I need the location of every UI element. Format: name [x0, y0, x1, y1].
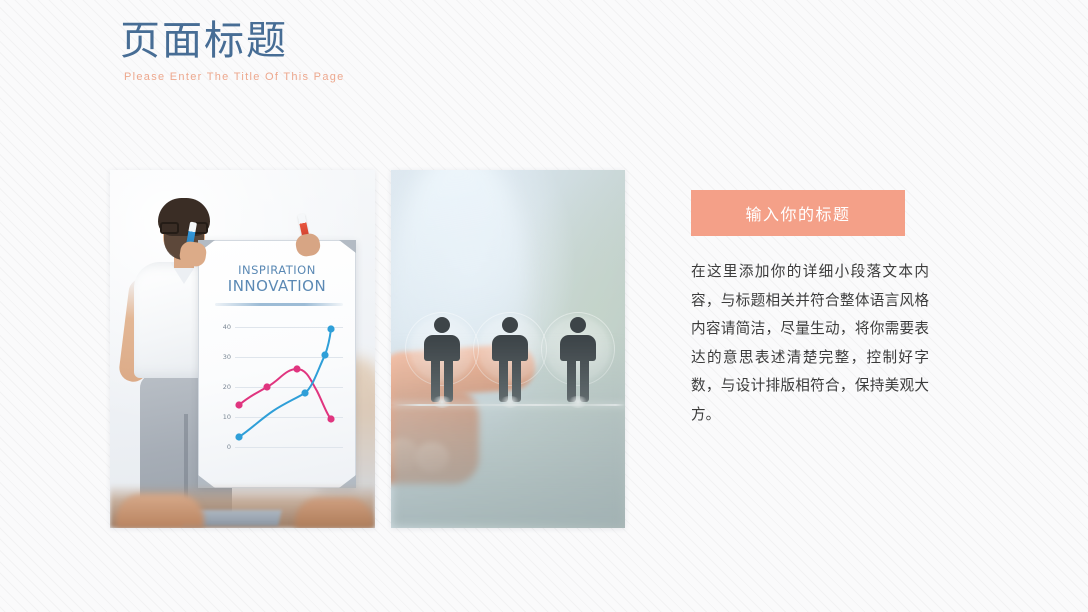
right-text-column: 输入你的标题 在这里添加你的详细小段落文本内容，与标题相关并符合整体语言风格内容…: [691, 190, 929, 429]
photo2-lower-blur: [391, 338, 625, 528]
person-icon-head: [434, 317, 450, 333]
section-title-text: 输入你的标题: [745, 201, 850, 225]
photo1-foreground-hand-left: [116, 494, 204, 528]
photo1-foreground-hand-right: [295, 498, 373, 528]
page-subtitle: Please Enter The Title Of This Page: [124, 70, 640, 84]
whiteboard-heading-line1: INSPIRATION: [199, 263, 355, 277]
person-icon-head: [502, 317, 518, 333]
whiteboard-line-chart: 40 30 20 10 0: [213, 319, 345, 469]
whiteboard-heading-underline: [215, 303, 343, 306]
person-icon-head: [570, 317, 586, 333]
page-title: 页面标题: [120, 18, 640, 64]
whiteboard: INSPIRATION INNOVATION 40 30 20 10 0: [198, 240, 356, 488]
whiteboard-heading: INSPIRATION INNOVATION: [199, 263, 355, 295]
slide-header: 页面标题 Please Enter The Title Of This Page: [120, 18, 640, 84]
slide-root: 页面标题 Please Enter The Title Of This Page: [0, 0, 1088, 612]
whiteboard-corner-top-right: [339, 240, 356, 253]
body-paragraph: 在这里添加你的详细小段落文本内容，与标题相关并符合整体语言风格内容请简洁，尽量生…: [691, 258, 929, 429]
glasses-icon: [160, 222, 208, 234]
chart-series-svg: [213, 319, 345, 469]
whiteboard-heading-line2: INNOVATION: [199, 277, 355, 295]
presenter-whiteboard-photo: INSPIRATION INNOVATION 40 30 20 10 0: [110, 170, 375, 528]
section-title-box: 输入你的标题: [691, 190, 905, 236]
finger-people-icons-photo: [391, 170, 625, 528]
